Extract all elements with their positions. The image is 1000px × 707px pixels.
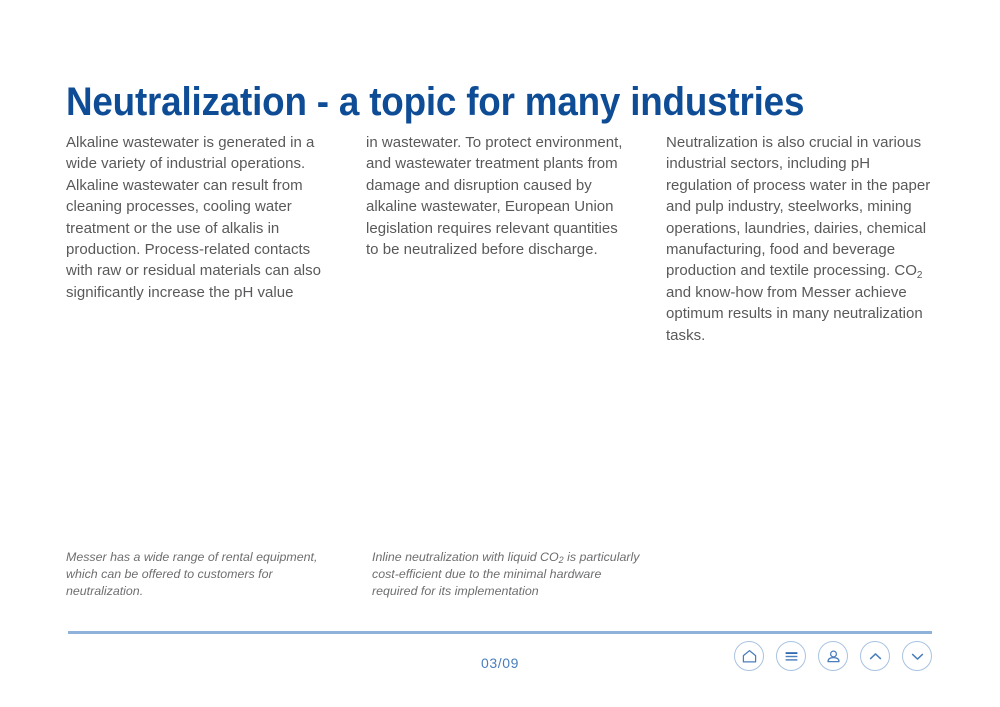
image-caption-2-text: Inline neutralization with liquid CO [372,550,559,564]
body-paragraph-3-subscript: 2 [917,270,923,281]
chevron-down-icon [909,648,926,665]
body-paragraph-1: Alkaline wastewater is generated in a wi… [66,132,332,303]
hamburger-menu-icon [783,648,800,665]
footer-navigation [734,641,932,671]
image-caption-2-subscript: 2 [559,555,564,565]
user-icon [825,648,842,665]
chevron-up-icon [867,648,884,665]
image-caption-1: Messer has a wide range of rental equipm… [66,549,338,599]
footer-divider [68,631,932,634]
caption-row: Messer has a wide range of rental equipm… [66,549,936,599]
image-placeholder-1 [66,350,332,545]
body-paragraph-3-text: Neutralization is also crucial in variou… [666,134,930,279]
slide-canvas: Neutralization - a topic for many indust… [0,0,1000,707]
next-page-button[interactable] [902,641,932,671]
image-caption-1-text: Messer has a wide range of rental equipm… [66,550,317,598]
image-caption-3 [678,549,950,599]
image-placeholder-2 [366,350,632,545]
body-columns: Alkaline wastewater is generated in a wi… [66,132,936,346]
home-icon [741,648,758,665]
page-title: Neutralization - a topic for many indust… [66,79,876,125]
image-placeholder-3 [666,350,932,545]
previous-page-button[interactable] [860,641,890,671]
body-paragraph-2-text: in wastewater. To protect environment, a… [366,134,622,258]
text-column-3: Neutralization is also crucial in variou… [666,132,932,346]
text-column-2: in wastewater. To protect environment, a… [366,132,632,346]
menu-button[interactable] [776,641,806,671]
body-paragraph-3: Neutralization is also crucial in variou… [666,132,932,346]
image-band [66,350,936,545]
home-button[interactable] [734,641,764,671]
text-column-1: Alkaline wastewater is generated in a wi… [66,132,332,346]
body-paragraph-1-text: Alkaline wastewater is generated in a wi… [66,134,321,301]
body-paragraph-3-text-tail: and know-how from Messer achieve optimum… [666,284,923,344]
image-caption-2: Inline neutralization with liquid CO2 is… [372,549,644,599]
body-paragraph-2: in wastewater. To protect environment, a… [366,132,632,260]
account-button[interactable] [818,641,848,671]
